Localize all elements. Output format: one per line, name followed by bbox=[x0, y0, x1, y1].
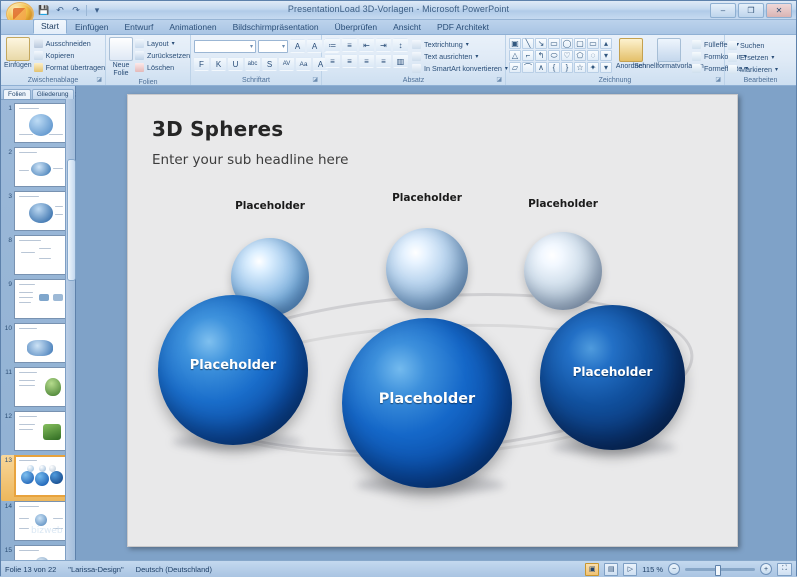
copy-label: Kopieren bbox=[46, 51, 75, 60]
delete-icon bbox=[135, 63, 144, 72]
window-title: PresentationLoad 3D-Vorlagen - Microsoft… bbox=[1, 4, 796, 14]
slides-label-text: Folien bbox=[138, 79, 157, 86]
slide-thumbnail[interactable] bbox=[14, 103, 68, 143]
zoom-slider-handle[interactable] bbox=[715, 565, 721, 576]
tab-entwurf[interactable]: Entwurf bbox=[117, 20, 162, 34]
paste-button[interactable]: Einfügen bbox=[4, 37, 32, 70]
shapes-more-icon[interactable]: ▾ bbox=[600, 62, 612, 73]
zoom-in-button[interactable]: + bbox=[760, 563, 772, 575]
select-label: Markieren bbox=[740, 65, 772, 74]
ribbon-tab-bar: Start Einfügen Entwurf Animationen Bilds… bbox=[1, 20, 796, 35]
reset-icon bbox=[135, 51, 144, 60]
shapes-scroll-down-icon[interactable]: ▾ bbox=[600, 50, 612, 61]
clipboard-group-label: Zwischenablage ◪ bbox=[1, 76, 105, 85]
list-item[interactable]: 9 bbox=[1, 279, 75, 323]
shape-right-brace-icon[interactable]: } bbox=[561, 62, 573, 73]
shape-freeform-icon[interactable]: ▱ bbox=[509, 62, 521, 73]
zoom-level: 115 % bbox=[642, 565, 663, 574]
bullets-icon[interactable]: ≔ bbox=[325, 38, 340, 52]
text-direction-label: Textrichtung bbox=[424, 40, 463, 49]
list-item[interactable]: 2 bbox=[1, 147, 75, 191]
layout-icon bbox=[135, 39, 144, 48]
columns-icon[interactable]: ▥ bbox=[393, 54, 408, 68]
italic-icon[interactable]: K bbox=[211, 57, 226, 71]
format-painter-icon bbox=[34, 63, 43, 72]
new-slide-button[interactable]: Neue Folie bbox=[109, 37, 133, 78]
thumbnail-scrollbar[interactable] bbox=[65, 99, 75, 560]
slide-number: 15 bbox=[3, 545, 12, 554]
tab-bildschirmpraesentation[interactable]: Bildschirmpräsentation bbox=[225, 20, 327, 34]
ribbon-group-editing: Suchen Ersetzen▾ Markieren▾ Bearbeiten bbox=[725, 35, 796, 85]
ribbon: Einfügen Ausschneiden Kopieren Format üb… bbox=[1, 35, 796, 86]
tab-einfuegen[interactable]: Einfügen bbox=[67, 20, 117, 34]
shape-connector-icon[interactable]: ⌐ bbox=[522, 50, 534, 61]
shape-effects-icon bbox=[692, 64, 701, 73]
shape-pentagon-icon[interactable]: ⬠ bbox=[574, 50, 586, 61]
language-indicator[interactable]: Deutsch (Deutschland) bbox=[136, 565, 212, 574]
quick-styles-icon bbox=[657, 38, 681, 62]
status-bar: Folie 13 von 22 "Larissa-Design" Deutsch… bbox=[1, 560, 796, 577]
shape-rounded-rect-icon[interactable]: ▢ bbox=[574, 38, 586, 49]
slide-thumbnail[interactable] bbox=[14, 411, 68, 451]
delete-slide-button[interactable]: Löschen bbox=[135, 62, 190, 73]
bold-icon[interactable]: F bbox=[194, 57, 209, 71]
text-shadow-icon[interactable]: S bbox=[262, 57, 277, 71]
shape-arrow-icon[interactable]: ↘ bbox=[535, 38, 547, 49]
list-item[interactable]: 10 bbox=[1, 323, 75, 367]
slide-subtitle[interactable]: Enter your sub headline here bbox=[152, 152, 348, 168]
main-area: Folien Gliederung ✕ 1 2 bbox=[1, 86, 796, 560]
shape-curve-icon[interactable]: ⌒ bbox=[522, 62, 534, 73]
fit-to-window-icon[interactable]: ⛶ bbox=[777, 563, 792, 576]
tab-ansicht[interactable]: Ansicht bbox=[385, 20, 429, 34]
replace-icon bbox=[728, 53, 737, 62]
slide-number: 10 bbox=[3, 323, 12, 332]
slide-number: 1 bbox=[3, 103, 12, 112]
arrange-icon bbox=[619, 38, 643, 62]
text-direction-button[interactable]: Textrichtung▾ bbox=[412, 39, 508, 50]
shape-heart-icon[interactable]: ♡ bbox=[561, 50, 573, 61]
minimize-button[interactable]: – bbox=[710, 3, 736, 18]
drawing-label-text: Zeichnung bbox=[599, 77, 632, 84]
shape-rect-icon[interactable]: ▣ bbox=[509, 38, 521, 49]
shapes-scroll-up-icon[interactable]: ▴ bbox=[600, 38, 612, 49]
cut-label: Ausschneiden bbox=[46, 39, 91, 48]
sphere-center-big[interactable]: Placeholder bbox=[342, 318, 512, 488]
sphere-label-center: Placeholder bbox=[342, 391, 512, 407]
text-direction-icon bbox=[412, 40, 421, 49]
list-item[interactable]: 15 bbox=[1, 545, 75, 560]
spheres-graphic: Placeholder Placeholder Placeholder Plac… bbox=[128, 190, 739, 548]
shape-sparkle-icon[interactable]: ✦ bbox=[587, 62, 599, 73]
align-left-icon[interactable]: ≡ bbox=[325, 54, 340, 68]
ribbon-group-font: ▾ ▾ A A ⌫ F K U abc S AV Aa bbox=[191, 35, 322, 85]
align-text-icon bbox=[412, 52, 421, 61]
shape-ellipse-icon[interactable]: ⬭ bbox=[548, 50, 560, 61]
ribbon-group-clipboard: Einfügen Ausschneiden Kopieren Format üb… bbox=[1, 35, 106, 85]
increase-indent-icon[interactable]: ⇥ bbox=[376, 38, 391, 52]
sphere-center-small[interactable] bbox=[386, 228, 468, 310]
shape-rectangle-icon[interactable]: ▭ bbox=[548, 38, 560, 49]
line-spacing-icon[interactable]: ↕ bbox=[393, 38, 408, 52]
slide-number: 13 bbox=[3, 455, 12, 464]
sphere-left-big[interactable]: Placeholder bbox=[158, 295, 308, 445]
ribbon-group-drawing: ▣ ╲ ↘ ▭ ◯ ▢ ▭ ▴ △ ⌐ ↰ ⬭ ♡ ⬠ ◌ ▾ ▱ bbox=[506, 35, 725, 85]
align-center-icon[interactable]: ≡ bbox=[342, 54, 357, 68]
slide-edit-area[interactable]: 3D Spheres Enter your sub headline here … bbox=[76, 86, 796, 560]
shape-oval-icon[interactable]: ◯ bbox=[561, 38, 573, 49]
window-controls: – ❐ ✕ bbox=[710, 3, 792, 18]
slide-number: 12 bbox=[3, 411, 12, 420]
slide-thumbnail[interactable] bbox=[14, 191, 68, 231]
editing-group-label: Bearbeiten bbox=[725, 76, 796, 85]
change-case-icon[interactable]: Aa bbox=[296, 57, 311, 71]
shape-left-brace-icon[interactable]: { bbox=[548, 62, 560, 73]
title-bar: 💾 ↶ ↷ ▾ PresentationLoad 3D-Vorlagen - M… bbox=[1, 1, 796, 20]
powerpoint-window: 💾 ↶ ↷ ▾ PresentationLoad 3D-Vorlagen - M… bbox=[0, 0, 797, 576]
numbering-icon[interactable]: ≡ bbox=[342, 38, 357, 52]
reset-label: Zurücksetzen bbox=[147, 51, 190, 60]
slide-thumbnail-pane: Folien Gliederung ✕ 1 2 bbox=[1, 86, 76, 560]
scissors-icon bbox=[34, 39, 43, 48]
ribbon-group-slides: Neue Folie Layout▾ Zurücksetzen Löschen bbox=[106, 35, 191, 85]
current-slide[interactable]: 3D Spheres Enter your sub headline here … bbox=[127, 94, 738, 547]
drawing-group-label: Zeichnung ◪ bbox=[506, 76, 724, 85]
layout-label: Layout bbox=[147, 39, 169, 48]
zoom-slider[interactable] bbox=[685, 568, 755, 571]
paste-label: Einfügen bbox=[4, 62, 32, 70]
select-icon bbox=[728, 65, 737, 74]
theme-name[interactable]: "Larissa-Design" bbox=[68, 565, 123, 574]
cut-button[interactable]: Ausschneiden bbox=[34, 38, 106, 49]
paragraph-label-text: Absatz bbox=[403, 77, 424, 84]
align-text-label: Text ausrichten bbox=[424, 52, 472, 61]
replace-button[interactable]: Ersetzen▾ bbox=[728, 52, 778, 63]
decrease-indent-icon[interactable]: ⇤ bbox=[359, 38, 374, 52]
shapes-gallery[interactable]: ▣ ╲ ↘ ▭ ◯ ▢ ▭ ▴ △ ⌐ ↰ ⬭ ♡ ⬠ ◌ ▾ ▱ bbox=[509, 38, 612, 73]
quick-styles-button[interactable]: Schnellformatvorlagen bbox=[650, 38, 688, 71]
editing-label-text: Bearbeiten bbox=[744, 77, 778, 84]
sphere-right-big[interactable]: Placeholder bbox=[540, 305, 685, 450]
tab-folien[interactable]: Folien bbox=[3, 89, 31, 99]
replace-label: Ersetzen bbox=[740, 53, 768, 62]
underline-icon[interactable]: U bbox=[228, 57, 243, 71]
clipboard-label-text: Zwischenablage bbox=[28, 77, 79, 84]
close-button[interactable]: ✕ bbox=[766, 3, 792, 18]
align-text-button[interactable]: Text ausrichten▾ bbox=[412, 51, 508, 62]
watermark-text: bizweb bbox=[31, 526, 63, 536]
sphere-right-small[interactable] bbox=[524, 232, 602, 310]
sphere-label-right: Placeholder bbox=[540, 365, 685, 379]
list-item[interactable]: 11 bbox=[1, 367, 75, 411]
find-button[interactable]: Suchen bbox=[728, 40, 778, 51]
tab-animationen[interactable]: Animationen bbox=[161, 20, 224, 34]
convert-smartart-button[interactable]: In SmartArt konvertieren▾ bbox=[412, 63, 508, 74]
select-button[interactable]: Markieren▾ bbox=[728, 64, 778, 75]
slide-title[interactable]: 3D Spheres bbox=[152, 117, 283, 141]
shape-star-icon[interactable]: ☆ bbox=[574, 62, 586, 73]
drawing-dialog-launcher-icon[interactable]: ◪ bbox=[715, 76, 721, 85]
thumbnail-list[interactable]: 1 2 bbox=[1, 100, 75, 560]
slide-number: 14 bbox=[3, 501, 12, 510]
slide-thumbnail[interactable] bbox=[14, 279, 68, 319]
tab-gliederung[interactable]: Gliederung bbox=[32, 89, 74, 99]
list-item[interactable]: 8 bbox=[1, 235, 75, 279]
slide-number: 11 bbox=[3, 367, 12, 376]
copy-icon bbox=[34, 51, 43, 60]
paragraph-dialog-launcher-icon[interactable]: ◪ bbox=[496, 76, 502, 85]
restore-button[interactable]: ❐ bbox=[738, 3, 764, 18]
shrink-font-icon[interactable]: A bbox=[307, 39, 322, 53]
list-item-selected[interactable]: 13 bbox=[1, 455, 75, 501]
slide-thumbnail[interactable] bbox=[14, 367, 68, 407]
status-bar-right: ▣ ▤ ▷ 115 % − + ⛶ bbox=[585, 563, 792, 576]
convert-smartart-label: In SmartArt konvertieren bbox=[424, 64, 502, 73]
tab-pdf-architekt[interactable]: PDF Architekt bbox=[429, 20, 497, 34]
font-label-text: Schriftart bbox=[242, 77, 270, 84]
tab-start[interactable]: Start bbox=[33, 19, 67, 34]
shape-chevron-icon[interactable]: ∧ bbox=[535, 62, 547, 73]
layout-button[interactable]: Layout▾ bbox=[135, 38, 190, 49]
slide-number: 2 bbox=[3, 147, 12, 156]
slide-thumbnail[interactable] bbox=[14, 147, 68, 187]
delete-label: Löschen bbox=[147, 63, 174, 72]
font-size-combobox[interactable]: ▾ bbox=[258, 40, 288, 53]
shape-elbow-arrow-icon[interactable]: ↰ bbox=[535, 50, 547, 61]
shape-banner-icon[interactable]: ▭ bbox=[587, 38, 599, 49]
list-item[interactable]: 1 bbox=[1, 103, 75, 147]
shape-fill-icon bbox=[692, 40, 701, 49]
new-slide-label: Neue Folie bbox=[109, 62, 133, 78]
font-group-label: Schriftart ◪ bbox=[191, 76, 321, 85]
format-painter-button[interactable]: Format übertragen bbox=[34, 62, 106, 73]
slide-thumbnail[interactable] bbox=[14, 323, 68, 363]
slide-number: 3 bbox=[3, 191, 12, 200]
caption-center-small[interactable]: Placeholder bbox=[363, 192, 491, 204]
font-name-combobox[interactable]: ▾ bbox=[194, 40, 256, 53]
shape-line-icon[interactable]: ╲ bbox=[522, 38, 534, 49]
shape-triangle-icon[interactable]: △ bbox=[509, 50, 521, 61]
paragraph-group-label: Absatz ◪ bbox=[322, 76, 505, 85]
slide-thumbnail[interactable] bbox=[14, 235, 68, 275]
list-item[interactable]: 12 bbox=[1, 411, 75, 455]
tab-ueberpruefen[interactable]: Überprüfen bbox=[327, 20, 386, 34]
slide-thumbnail[interactable] bbox=[14, 545, 68, 560]
view-slideshow-icon[interactable]: ▷ bbox=[623, 563, 637, 576]
align-right-icon[interactable]: ≡ bbox=[359, 54, 374, 68]
shape-circle-outline-icon[interactable]: ◌ bbox=[587, 50, 599, 61]
view-normal-icon[interactable]: ▣ bbox=[585, 563, 599, 576]
find-label: Suchen bbox=[740, 41, 764, 50]
scrollbar-thumb[interactable] bbox=[67, 159, 76, 281]
grow-font-icon[interactable]: A bbox=[290, 39, 305, 53]
caption-left-small[interactable]: Placeholder bbox=[206, 200, 334, 212]
paste-icon bbox=[6, 37, 30, 61]
slide-number: 9 bbox=[3, 279, 12, 288]
thumbnail-pane-tabs: Folien Gliederung ✕ bbox=[1, 86, 75, 100]
clipboard-dialog-launcher-icon[interactable]: ◪ bbox=[96, 76, 102, 85]
slide-thumbnail-current[interactable] bbox=[14, 455, 70, 497]
justify-icon[interactable]: ≡ bbox=[376, 54, 391, 68]
reset-button[interactable]: Zurücksetzen bbox=[135, 50, 190, 61]
ribbon-group-paragraph: ≔ ≡ ⇤ ⇥ ↕ ≡ ≡ ≡ ≡ ▥ bbox=[322, 35, 506, 85]
list-item[interactable]: 3 bbox=[1, 191, 75, 235]
caption-right-small[interactable]: Placeholder bbox=[499, 198, 627, 210]
slide-number: 8 bbox=[3, 235, 12, 244]
sphere-label-left: Placeholder bbox=[158, 358, 308, 373]
shape-outline-icon bbox=[692, 52, 701, 61]
zoom-out-button[interactable]: − bbox=[668, 563, 680, 575]
new-slide-icon bbox=[109, 37, 133, 61]
search-icon bbox=[728, 41, 737, 50]
slide-counter: Folie 13 von 22 bbox=[5, 565, 56, 574]
list-item[interactable]: 14 bbox=[1, 501, 75, 545]
smartart-icon bbox=[412, 64, 421, 73]
font-dialog-launcher-icon[interactable]: ◪ bbox=[312, 76, 318, 85]
format-painter-label: Format übertragen bbox=[46, 63, 106, 72]
view-slide-sorter-icon[interactable]: ▤ bbox=[604, 563, 618, 576]
copy-button[interactable]: Kopieren bbox=[34, 50, 106, 61]
character-spacing-icon[interactable]: AV bbox=[279, 57, 294, 71]
strikethrough-icon[interactable]: abc bbox=[245, 57, 260, 71]
